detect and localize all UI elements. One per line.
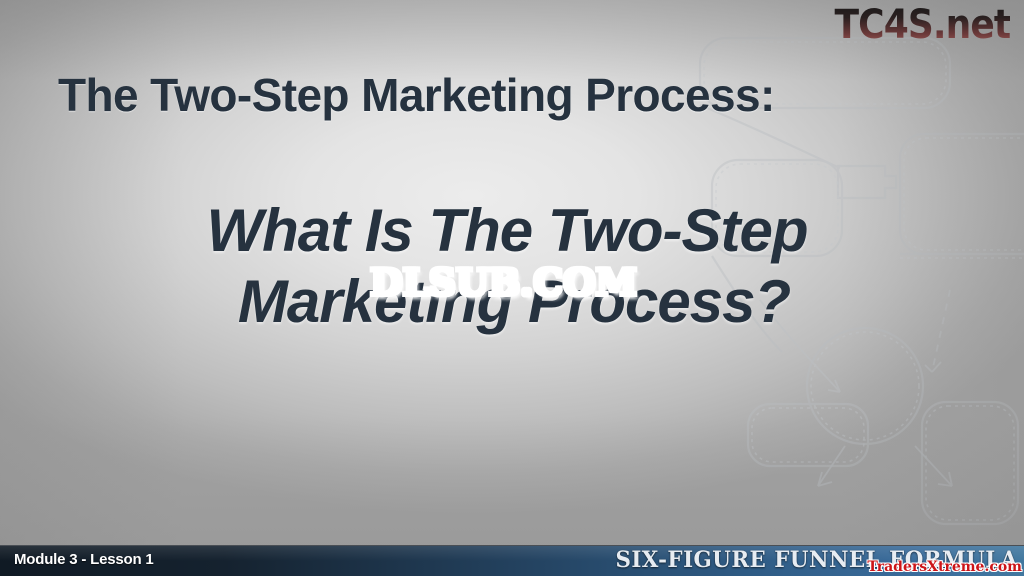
tradersxtreme-watermark: TradersXtreme.com — [867, 559, 1022, 575]
headline-line-1: What Is The Two-Step — [0, 196, 1024, 267]
tc4s-logo: TC4S.net — [834, 2, 1010, 48]
flow-node-rect-inner — [752, 408, 864, 462]
dlsub-watermark: DLSUB.COM — [370, 262, 637, 304]
flow-arrow-head — [925, 362, 941, 372]
lesson-label: Module 3 - Lesson 1 — [14, 551, 154, 568]
flow-node-circle — [807, 328, 923, 444]
flow-arrow-line — [818, 446, 845, 486]
flow-arrow-head — [938, 472, 952, 486]
flow-node-circle-inner — [811, 332, 919, 440]
flow-arrow-head — [818, 472, 832, 486]
flow-node-rect — [922, 402, 1018, 524]
flow-arrow-line — [915, 446, 952, 486]
flow-node-rect — [748, 404, 868, 466]
slide-canvas: TC4S.net The Two-Step Marketing Process:… — [0, 0, 1024, 576]
flow-arrow-head — [828, 380, 840, 392]
dlsub-watermark-text: DLSUB.COM — [370, 262, 637, 304]
flow-arrow-left — [838, 166, 896, 198]
flow-node-rect-inner — [926, 406, 1014, 520]
page-title: The Two-Step Marketing Process: — [58, 68, 775, 122]
